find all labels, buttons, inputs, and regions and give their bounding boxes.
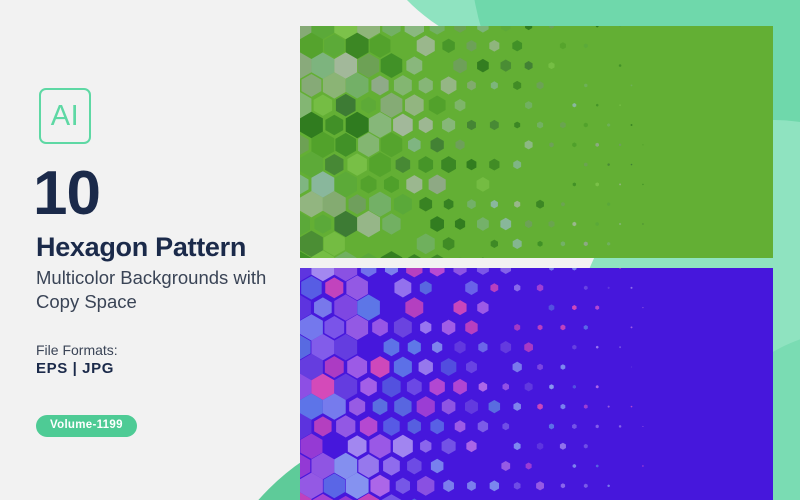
purple-hexagon-preview xyxy=(300,268,773,500)
page-title: Hexagon Pattern xyxy=(36,234,246,261)
volume-badge: Volume-1199 xyxy=(36,415,137,437)
file-formats-label: File Formats: xyxy=(36,343,118,357)
page-subtitle: Multicolor Backgrounds with Copy Space xyxy=(36,266,296,313)
ai-format-badge-label: AI xyxy=(51,102,79,131)
info-panel: AI 10 Hexagon Pattern Multicolor Backgro… xyxy=(0,0,300,500)
file-formats-value: EPS | JPG xyxy=(36,361,114,376)
volume-badge-label: Volume-1199 xyxy=(50,420,123,432)
item-count: 10 xyxy=(33,163,100,225)
poster-canvas: AI 10 Hexagon Pattern Multicolor Backgro… xyxy=(0,0,800,500)
ai-format-badge: AI xyxy=(39,88,91,144)
green-hexagon-preview xyxy=(300,26,773,258)
